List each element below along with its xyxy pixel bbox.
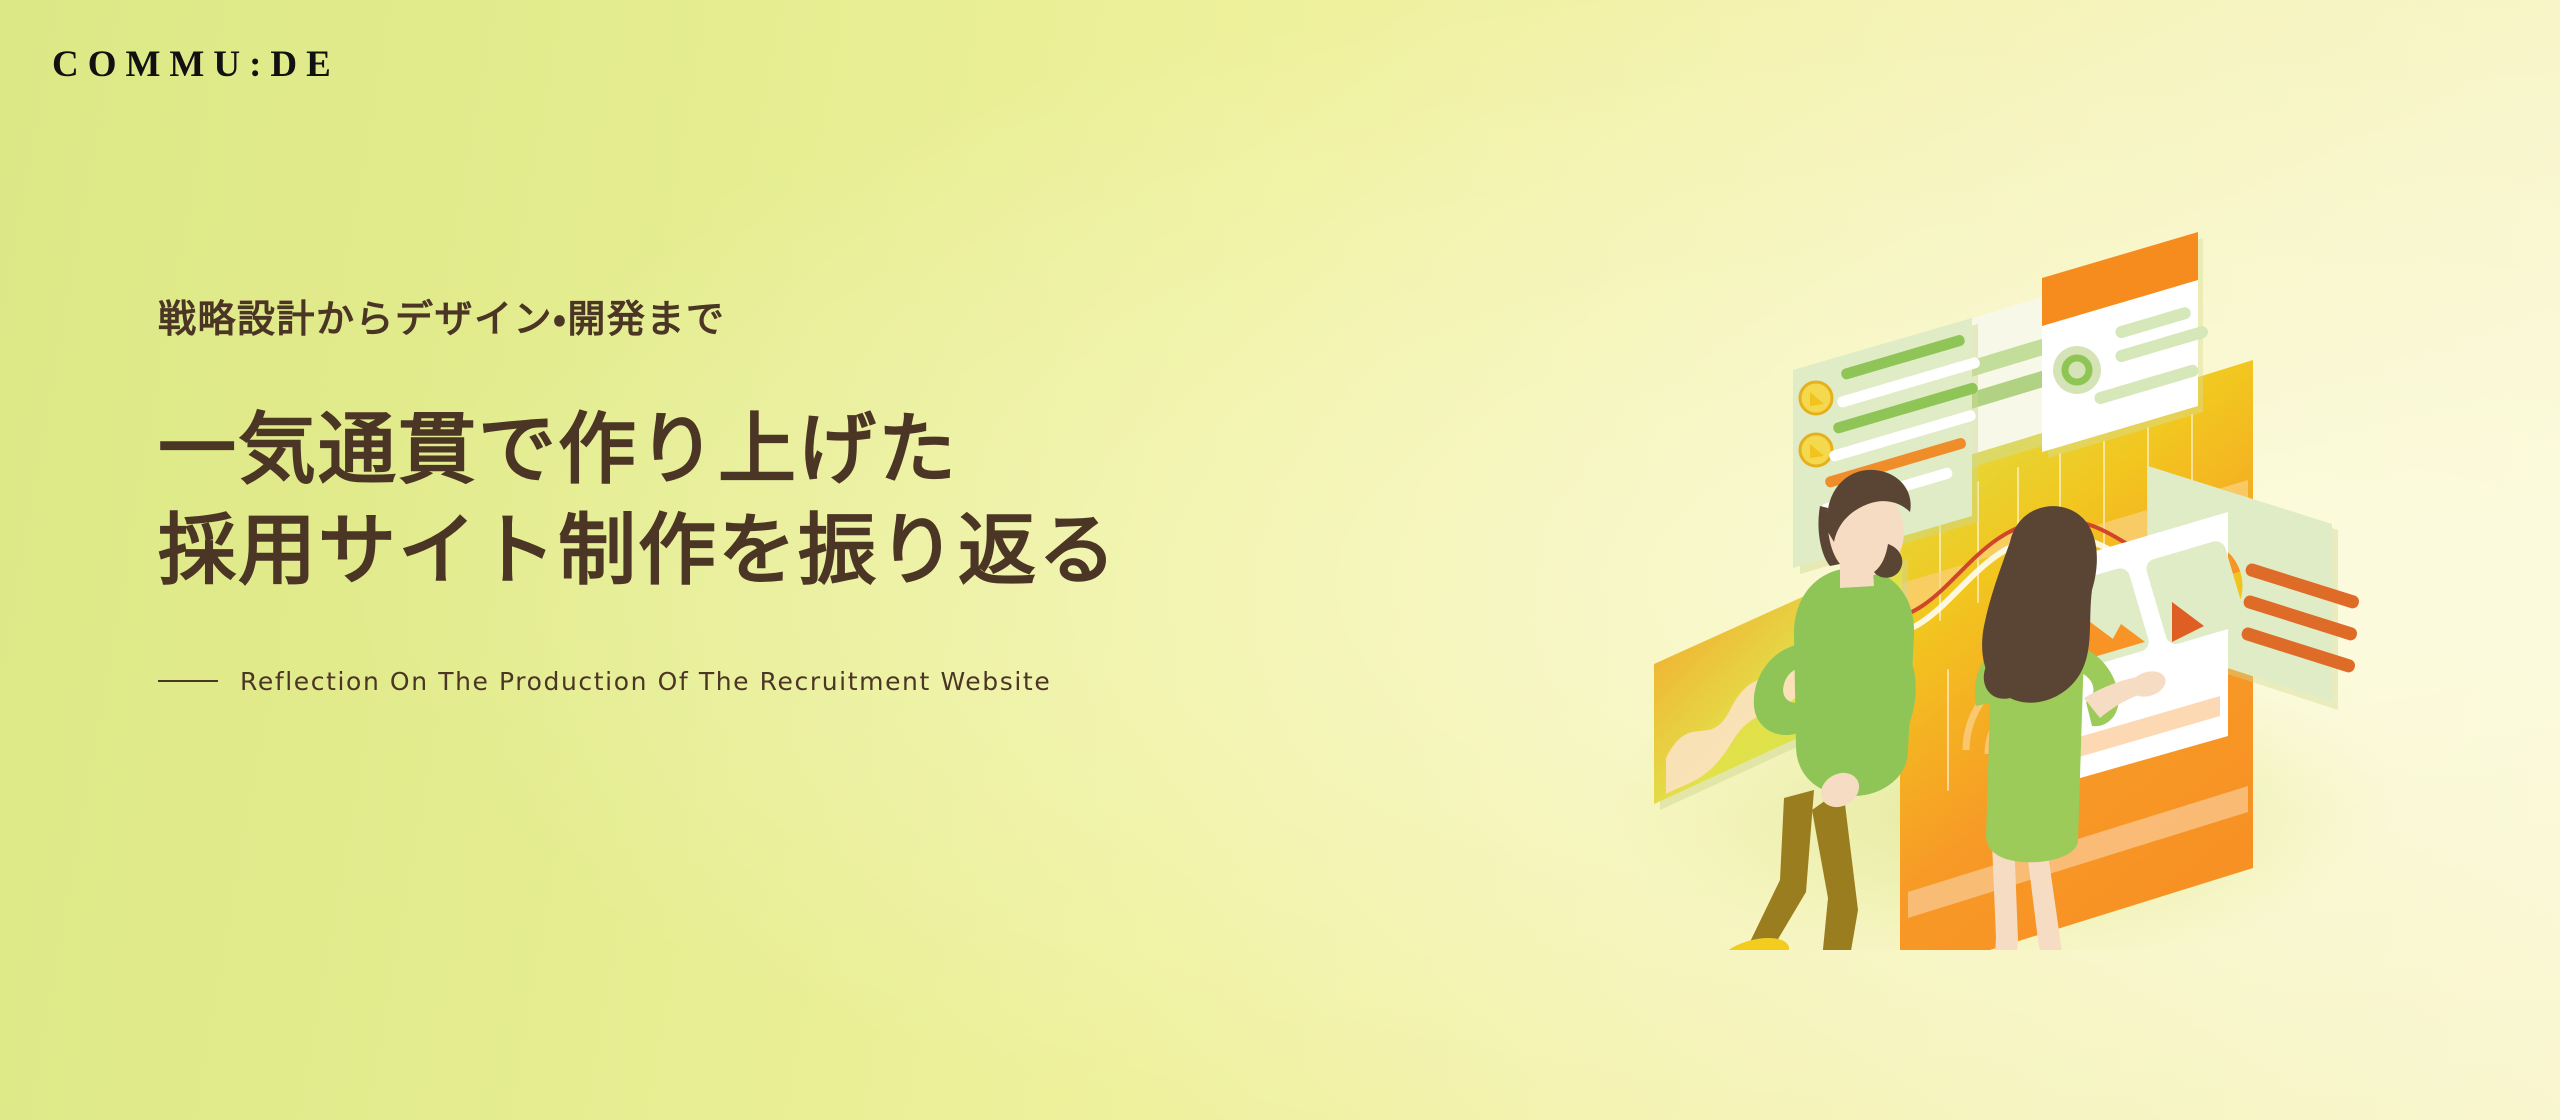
brand-logo[interactable]: COMMU:DE — [52, 46, 340, 83]
play-badge-icon — [1800, 434, 1832, 466]
avatar-ring-icon — [2053, 346, 2101, 394]
headline-line-2: 採用サイト制作を振り返る — [158, 501, 1478, 602]
page-title: 一気通貫で作り上げた 採用サイト制作を振り返る — [158, 400, 1478, 603]
hero-eyebrow: 戦略設計からデザイン・開発まで — [158, 300, 1478, 338]
headline-line-1: 一気通貫で作り上げた — [158, 400, 1478, 501]
hero-copy-block: 戦略設計からデザイン・開発まで 一気通貫で作り上げた 採用サイト制作を振り返る … — [158, 300, 1478, 696]
hero-illustration — [1548, 150, 2448, 950]
hero-subtitle-row: Reflection On The Production Of The Recr… — [158, 667, 1478, 696]
hero-banner: COMMU:DE 戦略設計からデザイン・開発まで 一気通貫で作り上げた 採用サイ… — [0, 0, 2560, 1120]
play-badge-icon — [1800, 382, 1832, 414]
rule-divider — [158, 680, 218, 682]
hero-subtitle-en: Reflection On The Production Of The Recr… — [240, 667, 1051, 696]
illustration-svg — [1548, 150, 2448, 950]
